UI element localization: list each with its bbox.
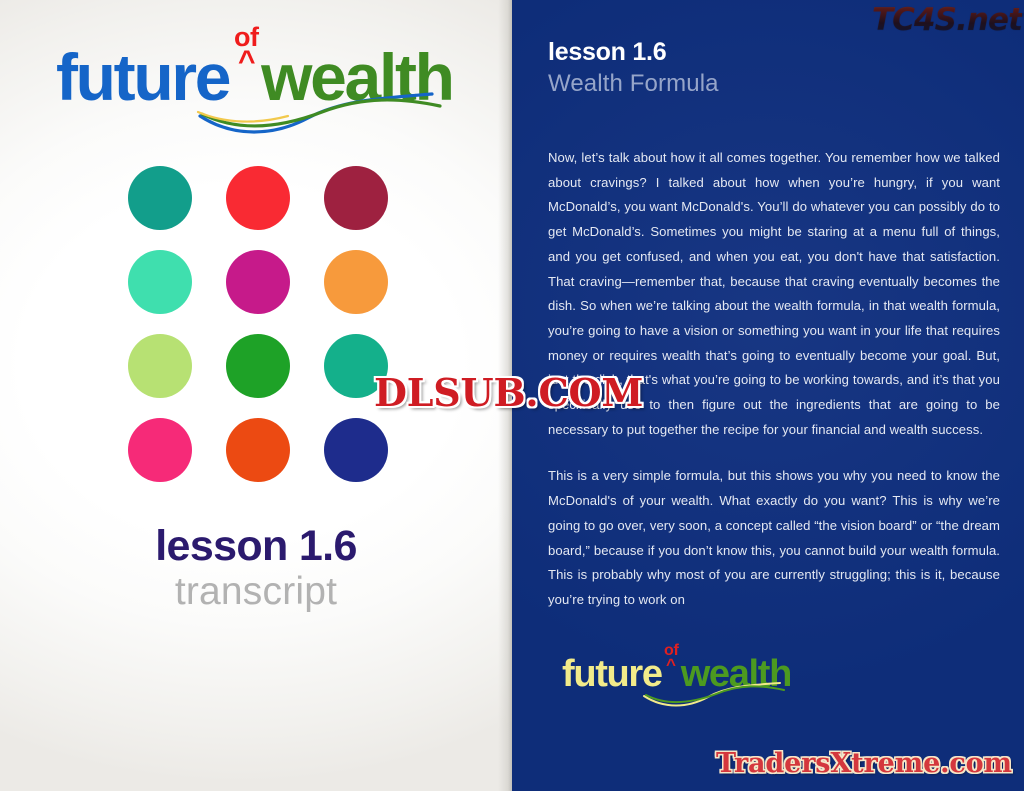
watermark-dlsub: DLSUB.COM (374, 370, 643, 415)
swatch-lime (128, 334, 192, 398)
color-swatch-grid (128, 166, 394, 502)
transcript-paragraph: This is a very simple formula, but this … (548, 464, 1000, 612)
transcript-page: futurewealth of ^ lesson 1.6 (0, 0, 1024, 791)
transcript-lesson-title: lesson 1.6 (548, 40, 666, 65)
swatch-teal (128, 166, 192, 230)
footer-caret-icon: ^ (666, 656, 676, 673)
swatch-pink (128, 418, 192, 482)
caret-icon: ^ (238, 47, 256, 77)
swatch-red (226, 166, 290, 230)
lesson-heading-block: lesson 1.6 transcript (0, 524, 512, 613)
footer-logo-wealth-text: wealth (681, 653, 791, 695)
swatch-mint (128, 250, 192, 314)
lesson-title: lesson 1.6 (0, 524, 512, 569)
logo-wealth-text: wealth (261, 40, 453, 114)
watermark-tradersxtreme: TradersXtreme.com (716, 748, 1012, 779)
swatch-maroon (324, 166, 388, 230)
transcript-lesson-subtitle: Wealth Formula (548, 72, 719, 96)
logo-future-text: future (56, 40, 229, 114)
swatch-magenta (226, 250, 290, 314)
watermark-tc4s: TC4S.net (872, 2, 1022, 38)
future-of-wealth-logo: futurewealth of ^ (56, 44, 453, 110)
future-of-wealth-footer-logo: futurewealth of ^ (562, 655, 791, 693)
swatch-navy (324, 418, 388, 482)
swatch-orange-deep (226, 418, 290, 482)
swatch-green (226, 334, 290, 398)
swatch-orange-light (324, 250, 388, 314)
footer-logo-future-text: future (562, 653, 662, 695)
lesson-subtitle: transcript (0, 571, 512, 613)
